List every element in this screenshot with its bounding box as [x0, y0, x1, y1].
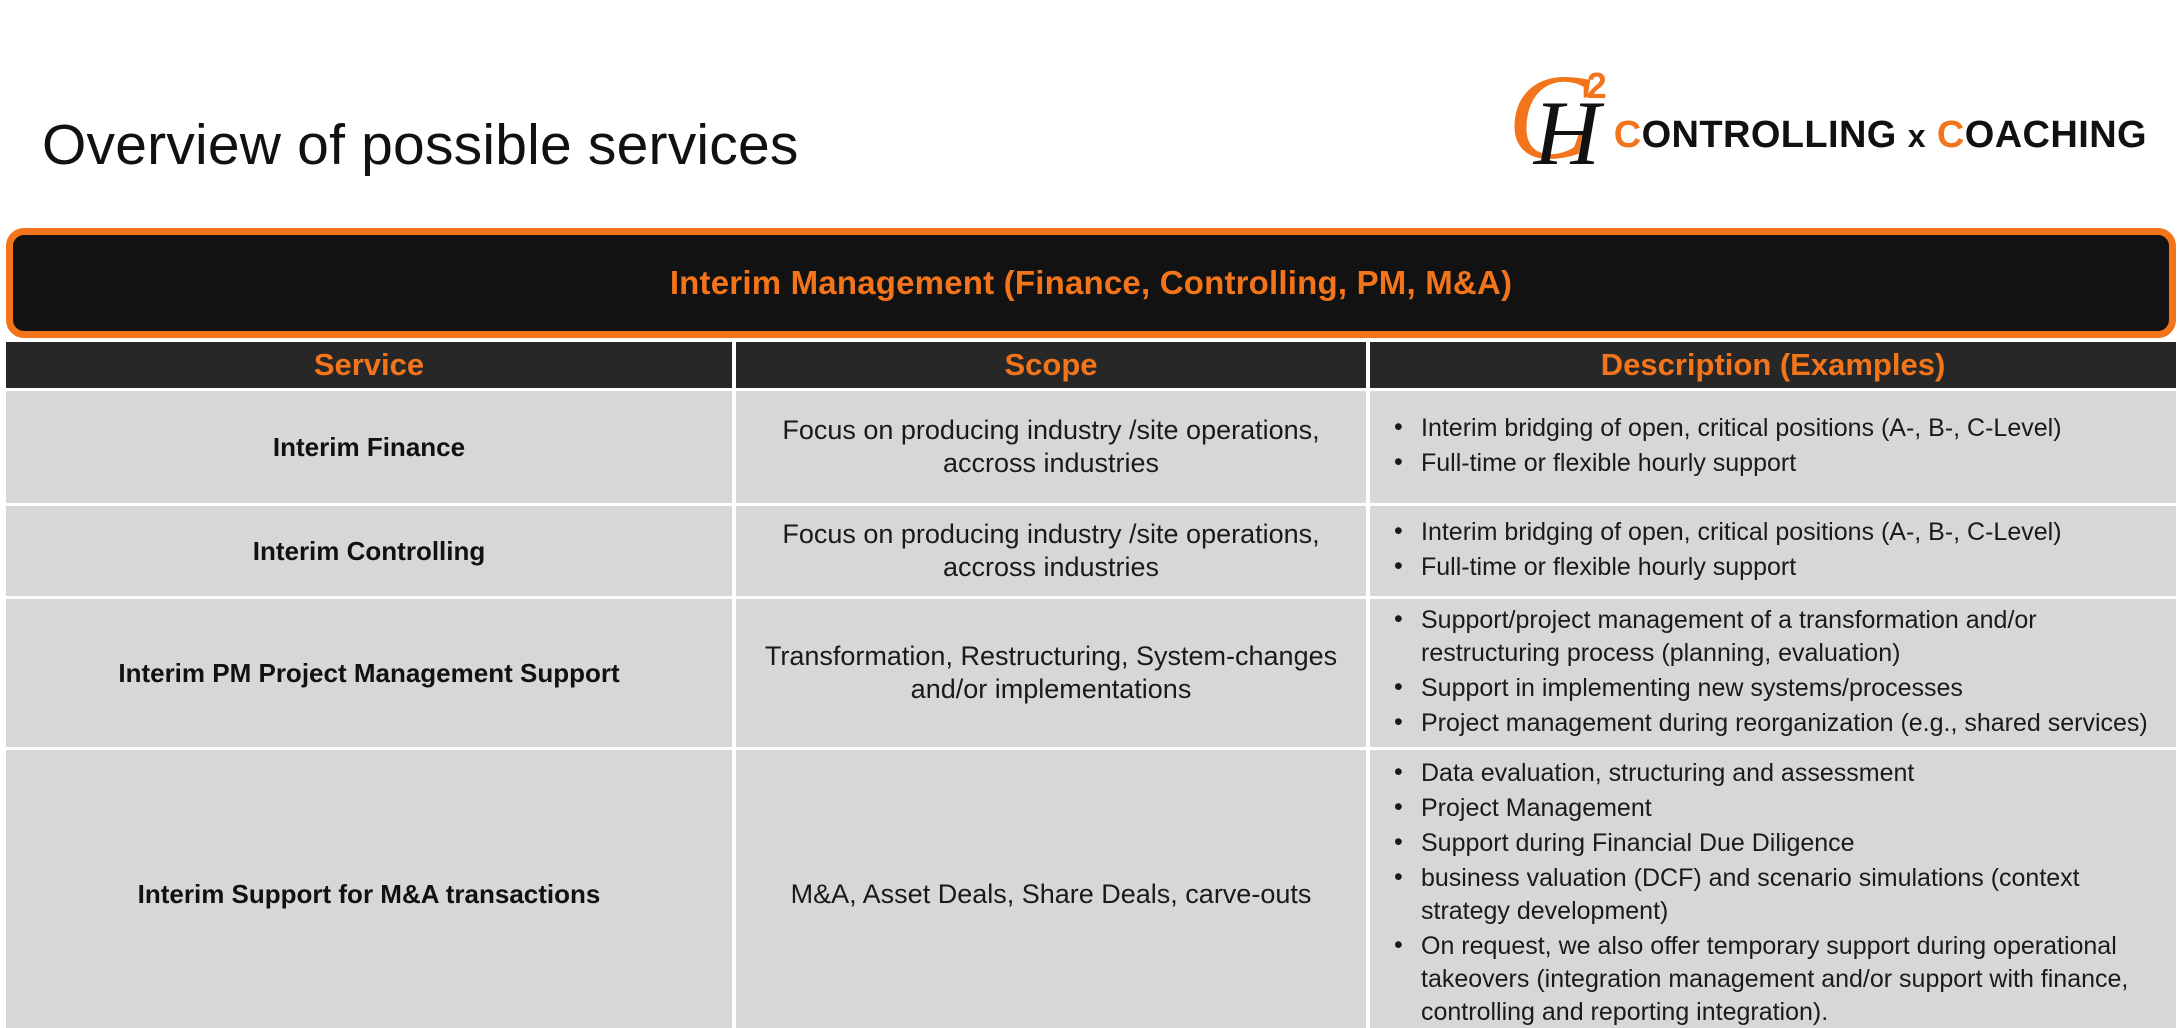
- description-list: Data evaluation, structuring and assessm…: [1388, 757, 2158, 1028]
- cell-scope: Focus on producing industry /site operat…: [736, 391, 1366, 503]
- table-row: Interim Support for M&A transactions M&A…: [6, 750, 2176, 1028]
- tagline-coaching-rest: OACHING: [1965, 114, 2147, 156]
- logo-tagline: CONTROLLING x COACHING: [1614, 115, 2147, 172]
- scope-label: Focus on producing industry /site operat…: [754, 518, 1348, 584]
- description-list: Interim bridging of open, critical posit…: [1388, 516, 2158, 586]
- list-item: Support/project management of a transfor…: [1388, 604, 2158, 670]
- scope-label: Transformation, Restructuring, System-ch…: [754, 640, 1348, 706]
- cell-description: Interim bridging of open, critical posit…: [1370, 391, 2176, 503]
- tagline-controlling-rest: ONTROLLING: [1642, 114, 1897, 156]
- description-list: Support/project management of a transfor…: [1388, 604, 2158, 742]
- cell-description: Support/project management of a transfor…: [1370, 599, 2176, 747]
- list-item: On request, we also offer temporary supp…: [1388, 930, 2158, 1028]
- list-item: Project Management: [1388, 792, 2158, 825]
- table-row: Interim PM Project Management Support Tr…: [6, 599, 2176, 747]
- list-item: Support in implementing new systems/proc…: [1388, 672, 2158, 705]
- scope-label: Focus on producing industry /site operat…: [754, 414, 1348, 480]
- column-header-description: Description (Examples): [1370, 342, 2176, 388]
- section-banner-label: Interim Management (Finance, Controlling…: [670, 264, 1512, 302]
- page-title: Overview of possible services: [42, 112, 799, 178]
- scope-label: M&A, Asset Deals, Share Deals, carve-out…: [791, 878, 1312, 911]
- services-table: Service Scope Description (Examples) Int…: [6, 342, 2176, 1028]
- cell-service: Interim PM Project Management Support: [6, 599, 732, 747]
- section-banner: Interim Management (Finance, Controlling…: [6, 228, 2176, 338]
- list-item: Project management during reorganization…: [1388, 707, 2158, 740]
- column-header-service-label: Service: [314, 347, 424, 383]
- service-label: Interim PM Project Management Support: [118, 657, 619, 689]
- list-item: business valuation (DCF) and scenario si…: [1388, 862, 2158, 928]
- list-item: Full-time or flexible hourly support: [1388, 551, 2158, 584]
- service-label: Interim Controlling: [253, 535, 486, 567]
- service-label: Interim Finance: [273, 431, 465, 463]
- logo-superscript-glyph: 2: [1587, 68, 1607, 104]
- list-item: Data evaluation, structuring and assessm…: [1388, 757, 2158, 790]
- cell-scope: Transformation, Restructuring, System-ch…: [736, 599, 1366, 747]
- cell-description: Data evaluation, structuring and assessm…: [1370, 750, 2176, 1028]
- cell-service: Interim Finance: [6, 391, 732, 503]
- cell-service: Interim Support for M&A transactions: [6, 750, 732, 1028]
- column-header-service: Service: [6, 342, 732, 388]
- cell-scope: Focus on producing industry /site operat…: [736, 506, 1366, 596]
- list-item: Interim bridging of open, critical posit…: [1388, 412, 2158, 445]
- column-header-description-label: Description (Examples): [1601, 347, 1946, 383]
- cell-description: Interim bridging of open, critical posit…: [1370, 506, 2176, 596]
- column-header-scope-label: Scope: [1004, 347, 1097, 383]
- description-list: Interim bridging of open, critical posit…: [1388, 412, 2158, 482]
- list-item: Interim bridging of open, critical posit…: [1388, 516, 2158, 549]
- tagline-separator: x: [1908, 118, 1926, 154]
- cell-service: Interim Controlling: [6, 506, 732, 596]
- tagline-coaching-initial: C: [1937, 114, 1965, 156]
- column-header-scope: Scope: [736, 342, 1366, 388]
- list-item: Full-time or flexible hourly support: [1388, 447, 2158, 480]
- slide-canvas: Overview of possible services C H 2 CONT…: [0, 0, 2182, 1028]
- table-row: Interim Finance Focus on producing indus…: [6, 391, 2176, 503]
- cell-scope: M&A, Asset Deals, Share Deals, carve-out…: [736, 750, 1366, 1028]
- company-logo: C H 2 CONTROLLING x COACHING: [1508, 62, 2147, 172]
- logo-mark-icon: C H 2: [1508, 64, 1620, 172]
- list-item: Support during Financial Due Diligence: [1388, 827, 2158, 860]
- table-row: Interim Controlling Focus on producing i…: [6, 506, 2176, 596]
- service-label: Interim Support for M&A transactions: [138, 878, 601, 910]
- table-header-row: Service Scope Description (Examples): [6, 342, 2176, 388]
